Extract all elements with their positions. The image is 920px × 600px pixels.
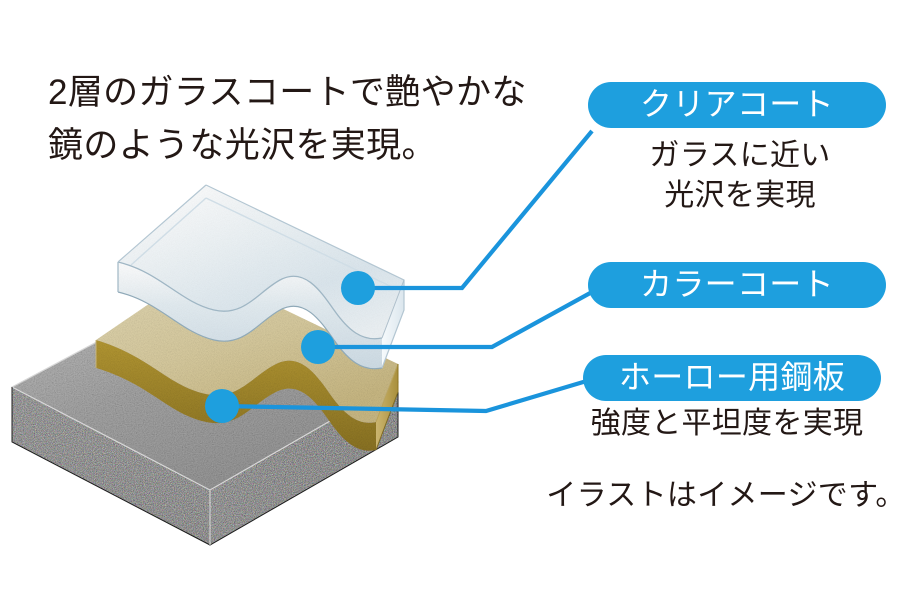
callout-description-enamel-steel: 強度と平坦度を実現 xyxy=(552,404,902,444)
callout-column: クリアコート ガラスに近い 光沢を実現 カラーコート ホーロー用鋼板 強度と平坦… xyxy=(560,0,920,600)
callout-label-color-coat[interactable]: カラーコート xyxy=(588,262,886,308)
diagram-canvas: 2層のガラスコートで艶やかな 鏡のような光沢を実現。 xyxy=(0,0,920,600)
layer-illustration xyxy=(0,150,520,550)
callout-label-clear-coat[interactable]: クリアコート xyxy=(588,82,886,128)
illustration-disclaimer: イラストはイメージです。 xyxy=(536,470,916,514)
callout-description-clear-coat: ガラスに近い 光沢を実現 xyxy=(600,136,880,215)
callout-label-enamel-steel[interactable]: ホーロー用鋼板 xyxy=(583,355,881,401)
